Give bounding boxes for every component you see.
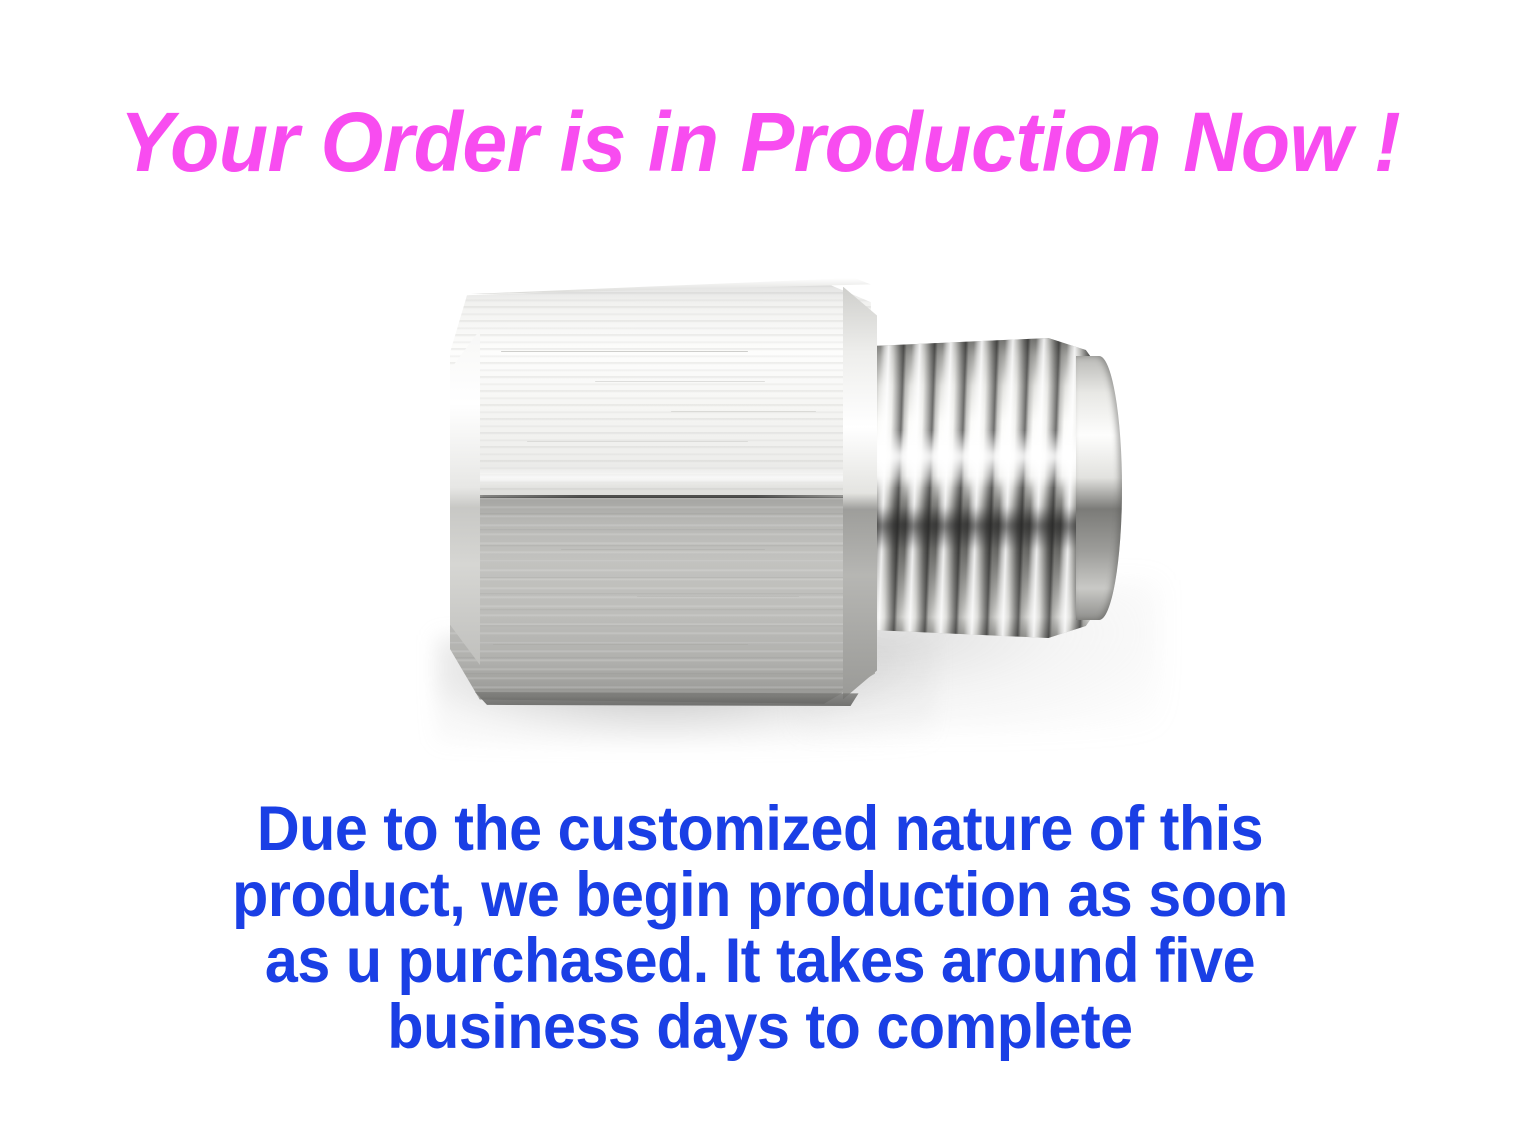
thread-end-cap bbox=[1076, 356, 1122, 620]
body-copy-line: product, we begin production as soon bbox=[46, 862, 1475, 928]
hex-nut-body bbox=[450, 278, 875, 708]
hex-right-chamfer bbox=[843, 287, 877, 700]
hex-left-chamfer bbox=[450, 330, 480, 665]
hex-facet-edge bbox=[459, 495, 871, 498]
body-copy-line: business days to complete bbox=[46, 994, 1475, 1060]
body-copy: Due to the customized nature of this pro… bbox=[46, 796, 1475, 1060]
body-copy-line: as u purchased. It takes around five bbox=[46, 928, 1475, 994]
hex-scratch bbox=[501, 351, 748, 352]
male-threaded-nipple bbox=[850, 338, 1118, 638]
body-copy-line: Due to the customized nature of this bbox=[46, 796, 1475, 862]
thread-shadow-band bbox=[855, 506, 1102, 550]
hex-lower-facet bbox=[450, 497, 875, 708]
hex-facet-highlight bbox=[463, 467, 867, 485]
hex-bottom-bevel bbox=[467, 692, 867, 706]
hex-scratch bbox=[561, 549, 765, 550]
hex-scratch bbox=[493, 644, 748, 645]
page-title: Your Order is in Production Now ! bbox=[30, 96, 1489, 188]
hex-top-facet bbox=[450, 278, 875, 497]
promo-banner: Your Order is in Production Now ! bbox=[0, 0, 1520, 1140]
product-photo bbox=[380, 250, 1200, 770]
